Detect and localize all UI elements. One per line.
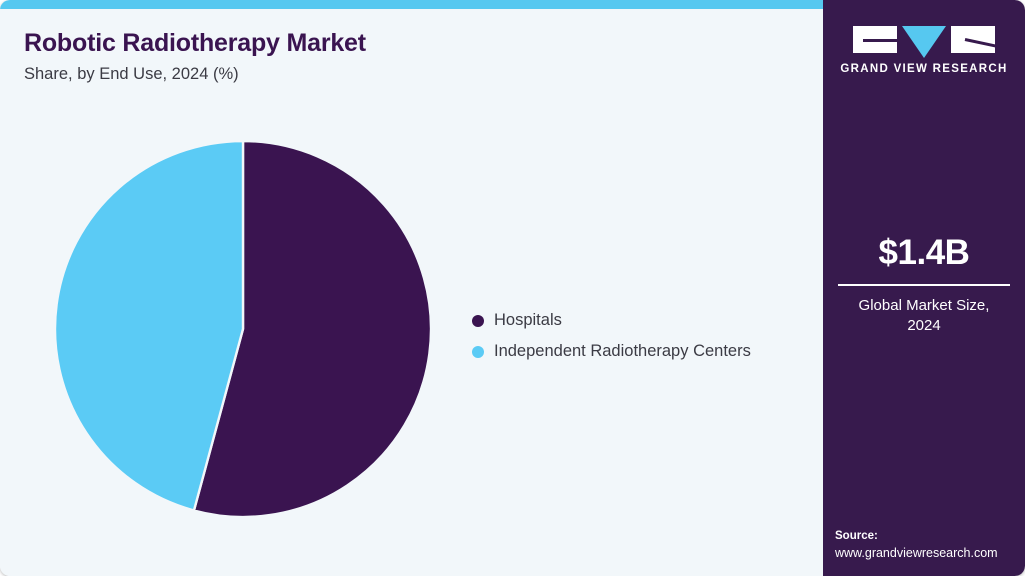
legend-item-independent-radiotherapy-centers[interactable]: Independent Radiotherapy Centers xyxy=(472,336,802,367)
source-block: Source: www.grandviewresearch.com xyxy=(823,528,1025,562)
sidebar: GRAND VIEW RESEARCH $1.4B Global Market … xyxy=(823,0,1025,576)
gvr-logo-icon xyxy=(823,26,1025,54)
market-size-value: $1.4B xyxy=(823,235,1025,270)
top-accent-bar xyxy=(0,0,824,9)
logo-r-icon xyxy=(951,26,995,53)
chart-legend: Hospitals Independent Radiotherapy Cente… xyxy=(472,305,802,367)
pie-slices xyxy=(55,141,431,517)
legend-item-hospitals[interactable]: Hospitals xyxy=(472,305,802,336)
page-title: Robotic Radiotherapy Market xyxy=(24,29,366,58)
brand-wordmark: GRAND VIEW RESEARCH xyxy=(823,63,1025,75)
legend-swatch-independent-radiotherapy-centers xyxy=(472,346,484,358)
brand-logo: GRAND VIEW RESEARCH xyxy=(823,26,1025,75)
legend-label-independent-radiotherapy-centers: Independent Radiotherapy Centers xyxy=(494,342,751,361)
legend-label-hospitals: Hospitals xyxy=(494,311,562,330)
pie-chart-svg xyxy=(55,141,431,517)
market-divider xyxy=(838,284,1010,286)
logo-g-icon xyxy=(853,26,897,53)
source-url[interactable]: www.grandviewresearch.com xyxy=(835,545,1025,562)
market-size-block: $1.4B Global Market Size, 2024 xyxy=(823,235,1025,337)
legend-swatch-hospitals xyxy=(472,315,484,327)
pie-chart xyxy=(55,141,431,517)
logo-v-triangle-icon xyxy=(902,26,946,58)
chart-panel: Robotic Radiotherapy Market Share, by En… xyxy=(0,9,823,576)
page-subtitle: Share, by End Use, 2024 (%) xyxy=(24,65,239,84)
market-size-caption: Global Market Size, 2024 xyxy=(823,296,1025,337)
source-label: Source: xyxy=(835,528,1025,545)
chart-card: Robotic Radiotherapy Market Share, by En… xyxy=(0,0,1025,576)
